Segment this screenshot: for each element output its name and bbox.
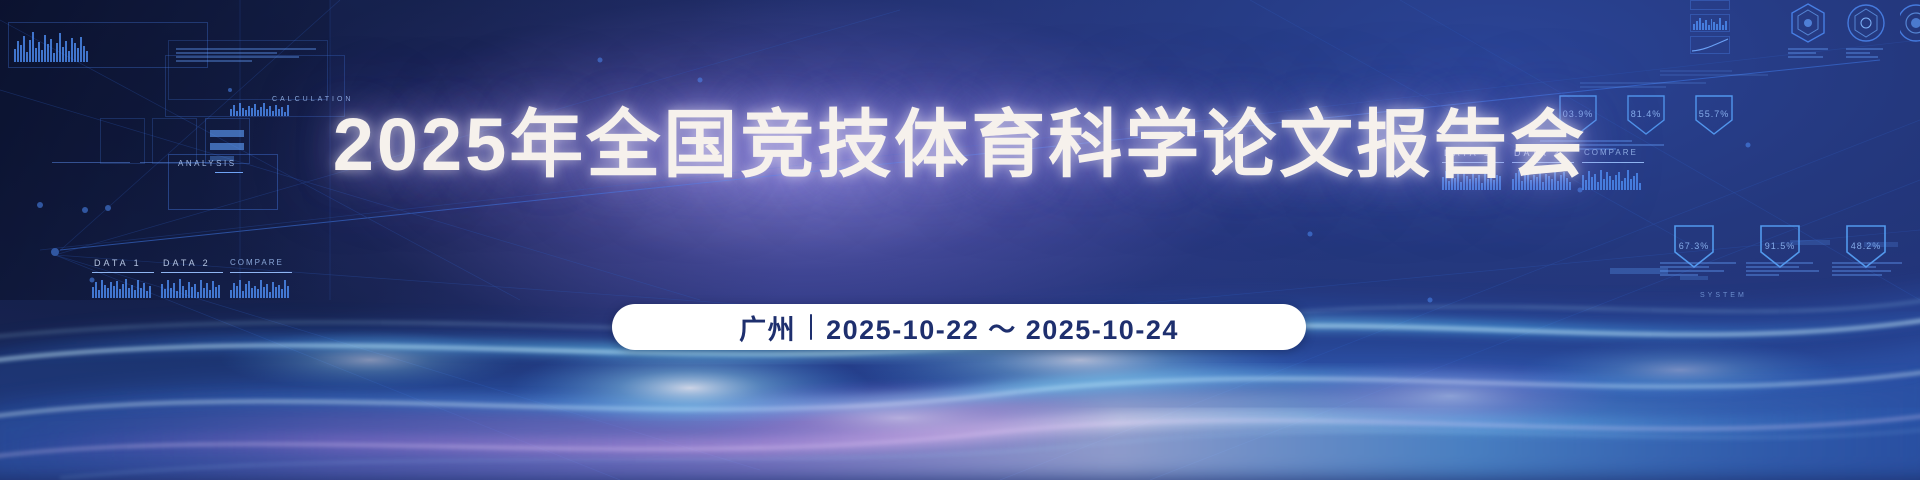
page-title: 2025年全国竞技体育科学论文报告会: [0, 108, 1920, 182]
pill-separator-icon: [810, 314, 812, 340]
banner-content: 2025年全国竞技体育科学论文报告会 广州 2025-10-22 ～ 2025-…: [0, 0, 1920, 480]
event-banner: CALCULATION ANALYSIS DATA 1 DATA 2 COMPA…: [0, 0, 1920, 480]
event-date-range: 2025-10-22 ～ 2025-10-24: [826, 308, 1179, 347]
event-info-pill: 广州 2025-10-22 ～ 2025-10-24: [612, 304, 1306, 350]
event-info-text: 广州 2025-10-22 ～ 2025-10-24: [739, 308, 1179, 347]
event-city: 广州: [739, 308, 796, 347]
